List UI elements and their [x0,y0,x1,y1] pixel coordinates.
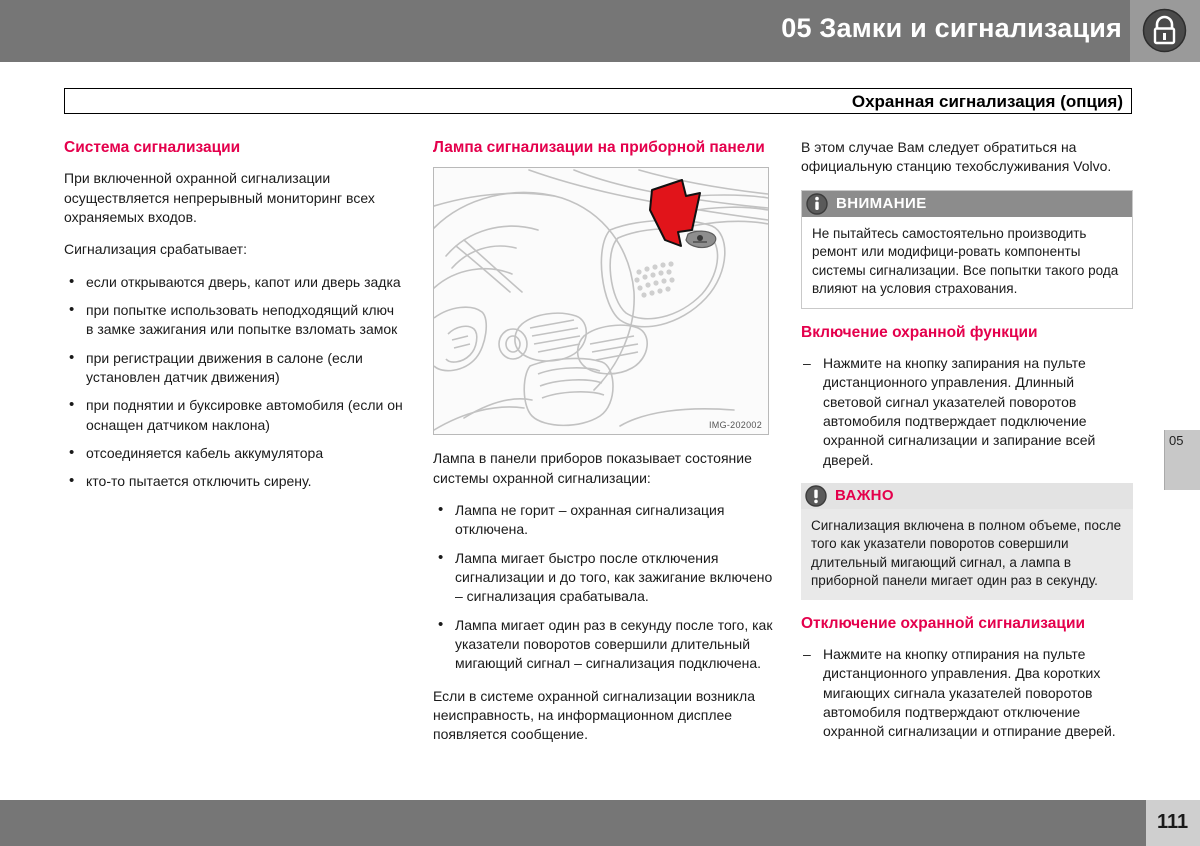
list-item: Нажмите на кнопку отпирания на пульте ди… [801,645,1133,742]
heading-alarm-lamp: Лампа сигнализации на приборной панели [433,138,773,157]
heading-alarm-system: Система сигнализации [64,138,404,157]
list-disable-alarm-steps: Нажмите на кнопку отпирания на пульте ди… [801,645,1133,742]
lock-icon [1142,8,1187,53]
note-warning-body: Не пытайтесь самостоятельно производить … [802,217,1132,308]
list-item: Лампа мигает быстро после отключения сиг… [433,549,773,607]
note-box-important: ВАЖНО Сигнализация включена в полном объ… [801,483,1133,600]
paragraph-service-station: В этом случае Вам следует обратиться на … [801,138,1133,177]
heading-enable-alarm: Включение охранной функции [801,323,1133,342]
paragraph-alarm-monitoring: При включенной охранной сигнализации осу… [64,169,404,227]
paragraph-alarm-triggers-lead: Сигнализация срабатывает: [64,240,404,259]
note-box-warning: ВНИМАНИЕ Не пытайтесь самостоятельно про… [801,190,1133,309]
list-item: Лампа мигает один раз в секунду после то… [433,616,773,674]
note-important-title: ВАЖНО [835,487,894,504]
dashboard-illustration: IMG-202002 [433,167,769,435]
list-item: если открываются дверь, капот или дверь … [64,273,404,292]
list-enable-alarm-steps: Нажмите на кнопку запирания на пульте ди… [801,354,1133,470]
middle-column: Лампа сигнализации на приборной панели [433,138,773,744]
heading-disable-alarm: Отключение охранной сигнализации [801,614,1133,633]
list-item: кто-то пытается отключить сирену. [64,472,404,491]
section-subtitle-bar: Охранная сигнализация (опция) [64,88,1132,114]
list-alarm-triggers: если открываются дверь, капот или дверь … [64,273,404,492]
section-subtitle: Охранная сигнализация (опция) [852,92,1123,112]
note-important-header: ВАЖНО [801,483,1133,509]
figure-image-id: IMG-202002 [709,420,762,430]
paragraph-lamp-states-lead: Лампа в панели приборов показывает состо… [433,449,773,488]
dashboard-line-art [434,168,768,434]
footer-band [0,800,1146,846]
page-title: 05 Замки и сигнализация [781,13,1122,44]
chapter-side-tab: 05 [1164,430,1200,490]
paragraph-fault-message: Если в системе охранной сигнализации воз… [433,687,773,745]
note-warning-title: ВНИМАНИЕ [836,195,927,212]
list-lamp-states: Лампа не горит – охранная сигнализация о… [433,501,773,674]
info-icon [806,193,828,215]
list-item: при поднятии и буксировке автомобиля (ес… [64,396,404,435]
exclamation-icon [805,485,827,507]
list-item: отсоединяется кабель аккумулятора [64,444,404,463]
left-column: Система сигнализации При включенной охра… [64,138,404,504]
note-important-body: Сигнализация включена в полном объеме, п… [801,509,1133,600]
alarm-lamp-indicator [686,231,716,247]
note-warning-header: ВНИМАНИЕ [802,191,1132,217]
footer-page-block: 111 [1146,800,1200,846]
header-icon-block [1130,0,1200,62]
list-item: Нажмите на кнопку запирания на пульте ди… [801,354,1133,470]
list-item: Лампа не горит – охранная сигнализация о… [433,501,773,540]
chapter-side-tab-label: 05 [1169,433,1183,448]
page-number: 111 [1157,811,1188,834]
right-column: В этом случае Вам следует обратиться на … [801,138,1133,755]
list-item: при попытке использовать неподходящий кл… [64,301,404,340]
list-item: при регистрации движения в салоне (если … [64,349,404,388]
